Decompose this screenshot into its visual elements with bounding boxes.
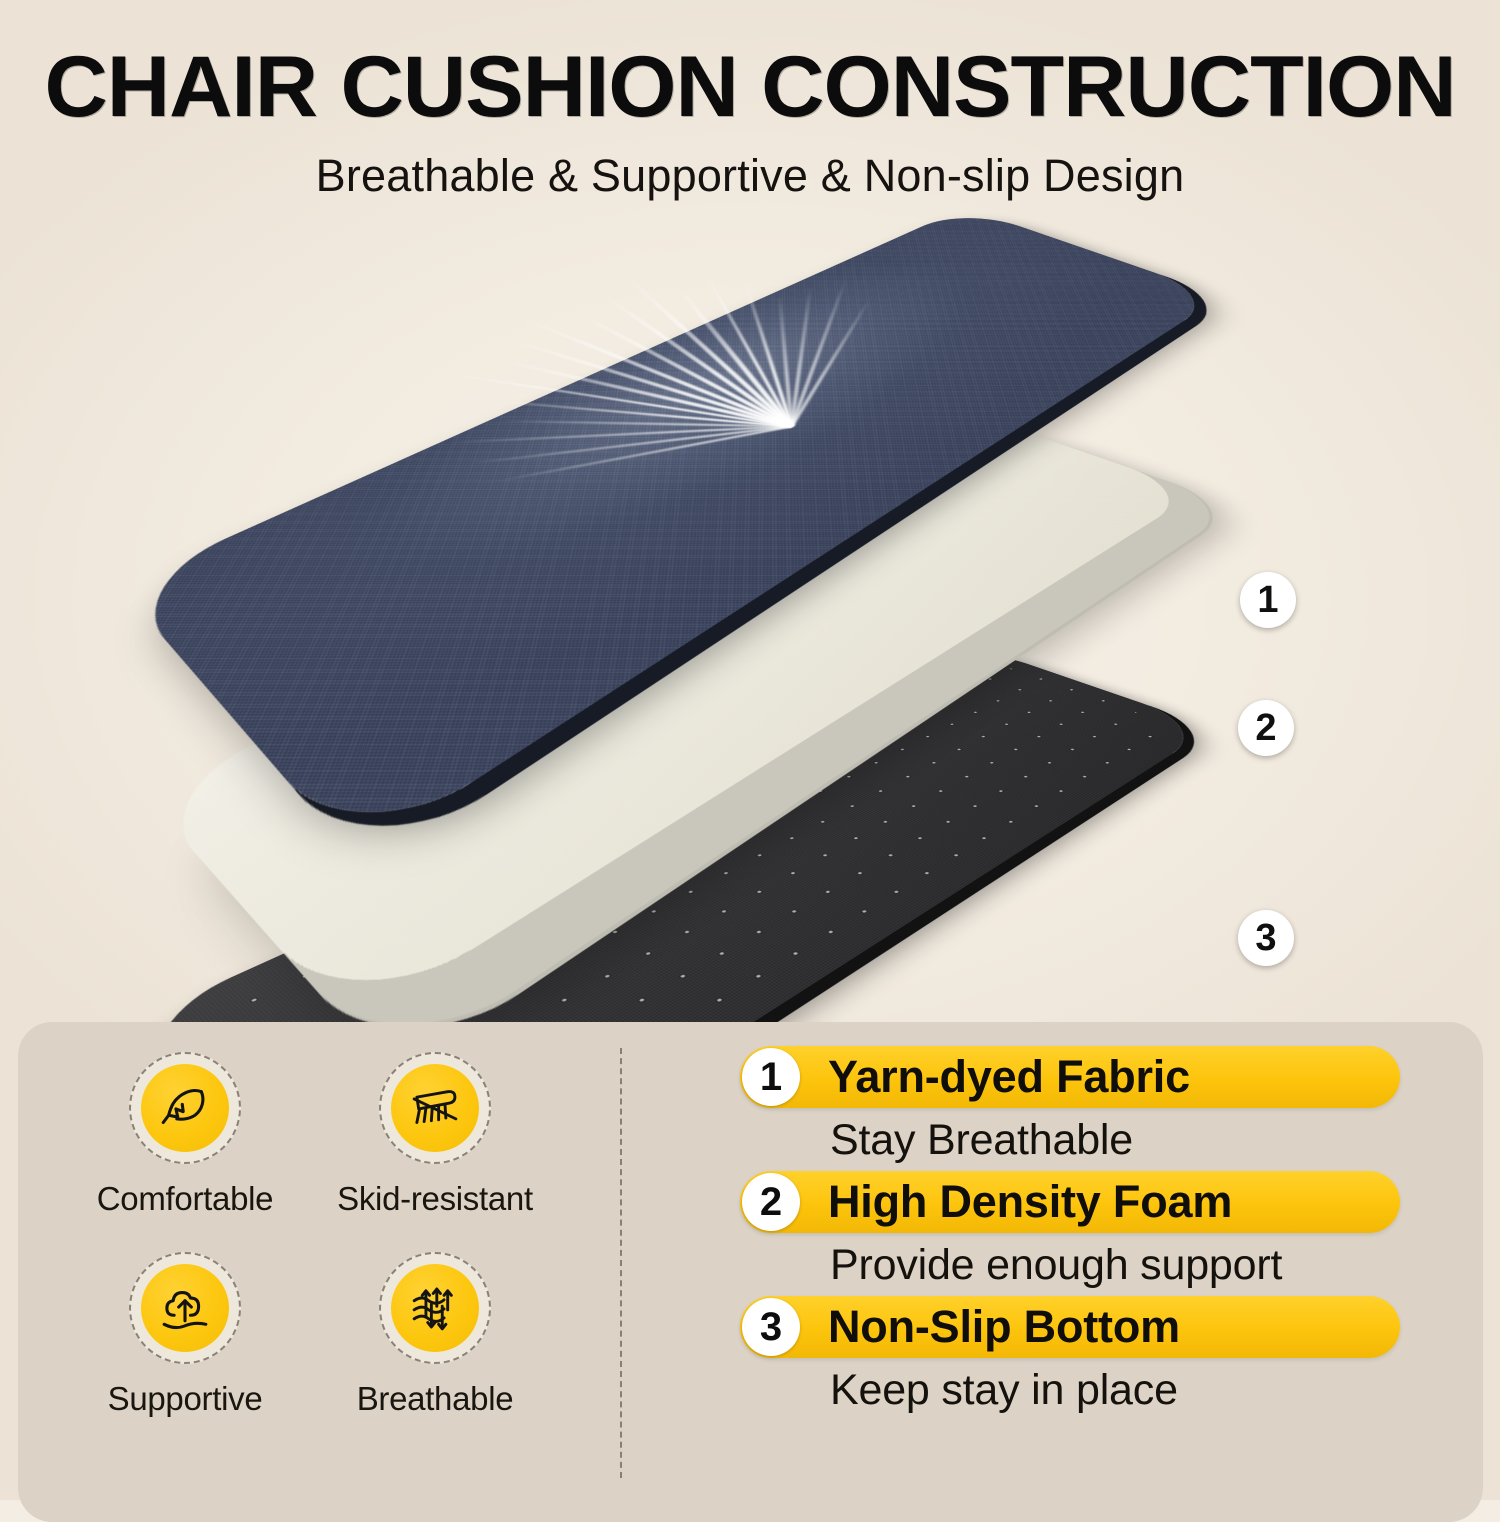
icon-disc — [379, 1252, 491, 1364]
icon-disc — [379, 1052, 491, 1164]
feature-desc-1: Stay Breathable — [830, 1116, 1440, 1165]
feature-row-1[interactable]: 1 Yarn-dyed Fabric Stay Breathable — [740, 1046, 1440, 1165]
feature-pill-1[interactable]: 1 Yarn-dyed Fabric — [740, 1046, 1400, 1108]
cloud-arrow-up-icon — [156, 1279, 214, 1337]
callout-badge-1: 1 — [1240, 572, 1296, 628]
benefit-label: Skid-resistant — [310, 1180, 560, 1218]
infographic-canvas: CHAIR CUSHION CONSTRUCTION Breathable & … — [0, 0, 1500, 1500]
benefit-label: Breathable — [310, 1380, 560, 1418]
benefit-item-skid-resistant[interactable]: Skid-resistant — [310, 1052, 560, 1218]
feature-title-2: High Density Foam — [828, 1176, 1232, 1228]
feature-desc-2: Provide enough support — [830, 1241, 1440, 1290]
page-subtitle: Breathable & Supportive & Non-slip Desig… — [0, 150, 1500, 202]
feature-number-badge-2: 2 — [742, 1173, 800, 1231]
benefit-item-breathable[interactable]: Breathable — [310, 1252, 560, 1418]
callout-badge-2: 2 — [1238, 700, 1294, 756]
airflow-waves-icon — [406, 1279, 464, 1337]
feature-pill-2[interactable]: 2 High Density Foam — [740, 1171, 1400, 1233]
feature-row-3[interactable]: 3 Non-Slip Bottom Keep stay in place — [740, 1296, 1440, 1415]
feature-title-3: Non-Slip Bottom — [828, 1301, 1180, 1353]
page-title: CHAIR CUSHION CONSTRUCTION — [0, 44, 1500, 130]
feature-list: 1 Yarn-dyed Fabric Stay Breathable 2 Hig… — [740, 1046, 1440, 1421]
brush-icon — [406, 1079, 464, 1137]
icon-disc — [129, 1252, 241, 1364]
benefit-item-supportive[interactable]: Supportive — [60, 1252, 310, 1418]
panel-divider — [620, 1048, 622, 1478]
feature-desc-3: Keep stay in place — [830, 1366, 1440, 1415]
feature-title-1: Yarn-dyed Fabric — [828, 1051, 1190, 1103]
icon-disc — [129, 1052, 241, 1164]
feature-pill-3[interactable]: 3 Non-Slip Bottom — [740, 1296, 1400, 1358]
header: CHAIR CUSHION CONSTRUCTION Breathable & … — [0, 44, 1500, 202]
benefit-label: Supportive — [60, 1380, 310, 1418]
benefit-label: Comfortable — [60, 1180, 310, 1218]
benefit-item-comfortable[interactable]: Comfortable — [60, 1052, 310, 1218]
exploded-cushion-diagram: 1 2 3 — [0, 200, 1500, 1010]
callout-badge-3: 3 — [1238, 910, 1294, 966]
feature-number-badge-1: 1 — [742, 1048, 800, 1106]
benefit-icon-grid: Comfortable Skid-resistant — [60, 1052, 600, 1472]
feather-icon — [156, 1079, 214, 1137]
feature-number-badge-3: 3 — [742, 1298, 800, 1356]
feature-row-2[interactable]: 2 High Density Foam Provide enough suppo… — [740, 1171, 1440, 1290]
